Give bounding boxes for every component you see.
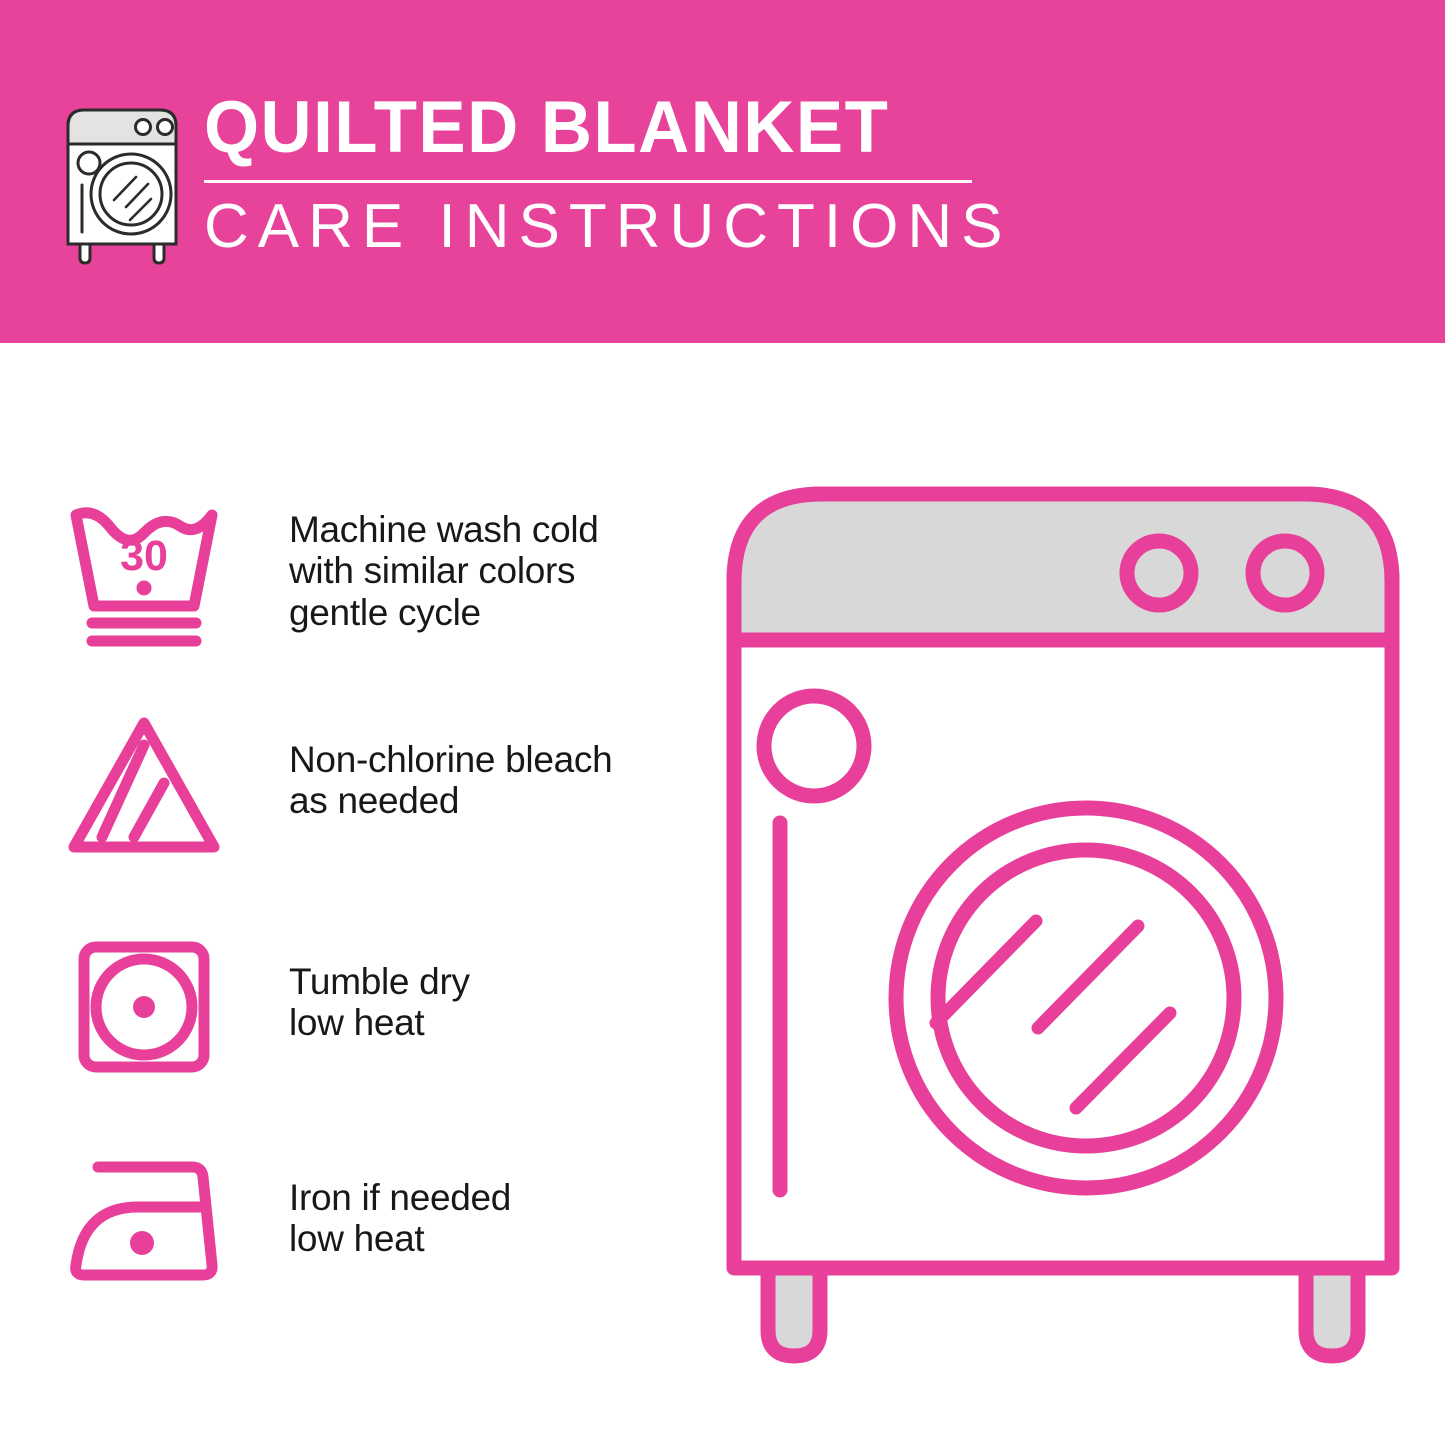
care-item-bleach: Non-chlorine bleach as needed [62, 711, 682, 881]
care-label-line: gentle cycle [289, 592, 599, 633]
header-content: QUILTED BLANKET CARE INSTRUCTIONS [58, 92, 1011, 265]
page-title: QUILTED BLANKET [204, 92, 987, 164]
tumble-dry-low-icon [62, 929, 227, 1089]
washing-machine-icon [58, 100, 186, 265]
knob-left [1127, 541, 1191, 605]
leg-right [1306, 1268, 1358, 1356]
small-dial [764, 696, 864, 796]
care-item-label: Iron if needed low heat [289, 1177, 511, 1260]
non-chlorine-bleach-triangle-icon [62, 711, 227, 871]
page-subtitle: CARE INSTRUCTIONS [204, 196, 1011, 258]
care-instructions-page: QUILTED BLANKET CARE INSTRUCTIONS 30 [0, 0, 1445, 1445]
knob-right [1253, 541, 1317, 605]
care-item-label: Machine wash cold with similar colors ge… [289, 509, 599, 633]
iron-low-heat-icon [62, 1143, 227, 1303]
care-label-line: with similar colors [289, 550, 599, 591]
care-item-label: Non-chlorine bleach as needed [289, 739, 612, 822]
care-item-tumble-dry: Tumble dry low heat [62, 929, 682, 1099]
page-header: QUILTED BLANKET CARE INSTRUCTIONS [0, 0, 1445, 343]
front-load-washing-machine-illustration [718, 478, 1408, 1368]
title-divider [204, 180, 972, 183]
svg-text:30: 30 [120, 532, 168, 580]
care-instruction-list: 30 Machine wash cold with similar colors… [0, 343, 700, 1445]
care-item-label: Tumble dry low heat [289, 961, 470, 1044]
wash-tub-30-gentle-icon: 30 [62, 493, 227, 653]
care-label-line: Non-chlorine bleach [289, 739, 612, 780]
care-item-machine-wash: 30 Machine wash cold with similar colors… [62, 493, 682, 663]
care-item-iron: Iron if needed low heat [62, 1143, 682, 1313]
care-label-line: Tumble dry [289, 961, 470, 1002]
leg-left [768, 1268, 820, 1356]
care-label-line: low heat [289, 1218, 511, 1259]
care-label-line: Machine wash cold [289, 509, 599, 550]
header-title-block: QUILTED BLANKET CARE INSTRUCTIONS [204, 92, 1011, 258]
care-label-line: Iron if needed [289, 1177, 511, 1218]
care-label-line: low heat [289, 1002, 470, 1043]
care-label-line: as needed [289, 780, 612, 821]
